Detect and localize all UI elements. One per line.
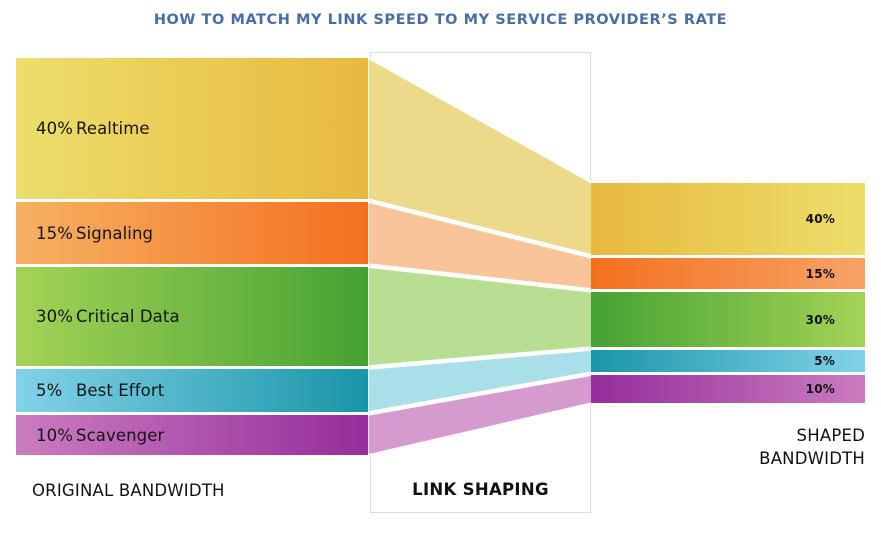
original-bar-label: Critical Data xyxy=(76,307,180,326)
shaped-bar-critical-data: 30% xyxy=(591,292,865,347)
original-bar-signaling: 15%Signaling xyxy=(16,202,368,264)
shaped-bar-percent: 30% xyxy=(806,313,835,327)
shaped-bar-signaling: 15% xyxy=(591,258,865,289)
link-shaping-caption: LINK SHAPING xyxy=(370,480,591,499)
shaped-bar-realtime: 40% xyxy=(591,183,865,255)
original-bar-percent: 15% xyxy=(36,224,76,243)
original-bar-label: Scavenger xyxy=(76,426,164,445)
sankey-diagram: HOW TO MATCH MY LINK SPEED TO MY SERVICE… xyxy=(0,0,881,536)
original-bar-realtime: 40%Realtime xyxy=(16,58,368,199)
shaped-bar-percent: 40% xyxy=(806,212,835,226)
original-bar-best-effort: 5%Best Effort xyxy=(16,369,368,412)
shaped-bar-percent: 10% xyxy=(806,382,835,396)
original-bar-critical-data: 30%Critical Data xyxy=(16,267,368,366)
original-bar-label: Realtime xyxy=(76,119,150,138)
original-bar-label: Signaling xyxy=(76,224,153,243)
shaped-bar-scavenger: 10% xyxy=(591,375,865,403)
shaped-caption-line-1: SHAPED xyxy=(625,424,865,447)
original-bar-percent: 5% xyxy=(36,381,76,400)
original-bar-label: Best Effort xyxy=(76,381,164,400)
original-bandwidth-caption: ORIGINAL BANDWIDTH xyxy=(32,481,225,500)
original-bar-percent: 30% xyxy=(36,307,76,326)
original-bar-scavenger: 10%Scavenger xyxy=(16,415,368,455)
shaped-bar-percent: 15% xyxy=(806,267,835,281)
original-bar-percent: 40% xyxy=(36,119,76,138)
shaped-bandwidth-caption: SHAPED BANDWIDTH xyxy=(625,424,865,470)
original-bar-percent: 10% xyxy=(36,426,76,445)
shaped-caption-line-2: BANDWIDTH xyxy=(625,447,865,470)
shaped-bar-best-effort: 5% xyxy=(591,350,865,372)
shaped-bar-percent: 5% xyxy=(814,354,835,368)
